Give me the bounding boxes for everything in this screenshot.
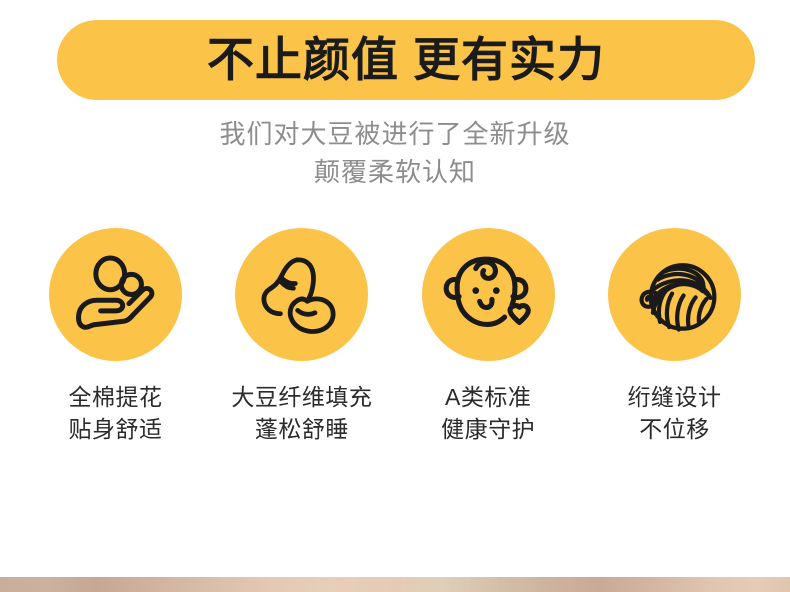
- feature-label-line-2: 蓬松舒睡: [231, 414, 372, 446]
- soybeans-icon: [254, 247, 350, 343]
- subtitle-line-2: 颠覆柔软认知: [0, 154, 790, 192]
- title-banner: 不止颜值 更有实力: [57, 20, 755, 100]
- feature-item-soybean: 大豆纤维填充 蓬松舒睡: [224, 228, 379, 445]
- hand-holding-cotton-icon: [68, 247, 164, 343]
- feature-label: A类标准 健康守护: [441, 382, 535, 445]
- yarn-ball-icon: [626, 247, 722, 343]
- subtitle-line-1: 我们对大豆被进行了全新升级: [0, 116, 790, 154]
- baby-face-heart-icon: [439, 246, 537, 344]
- feature-label-line-1: 全棉提花: [69, 384, 163, 410]
- feature-icon-badge: [235, 228, 368, 361]
- feature-label-line-1: 大豆纤维填充: [231, 384, 372, 410]
- feature-label-line-2: 不位移: [627, 414, 721, 446]
- feature-icon-badge: [422, 228, 555, 361]
- promo-page: 不止颜值 更有实力 我们对大豆被进行了全新升级 颠覆柔软认知 全棉提花 贴身舒适: [0, 0, 790, 592]
- feature-label-line-1: 绗缝设计: [627, 384, 721, 410]
- feature-label: 绗缝设计 不位移: [627, 382, 721, 445]
- feature-list: 全棉提花 贴身舒适 大豆纤维填充 蓬松舒睡: [0, 228, 790, 445]
- feature-label-line-2: 健康守护: [441, 414, 535, 446]
- feature-item-standard: A类标准 健康守护: [411, 228, 566, 445]
- feature-icon-badge: [608, 228, 741, 361]
- bottom-image-strip: [0, 577, 790, 592]
- page-title: 不止颜值 更有实力: [207, 36, 605, 83]
- feature-label: 全棉提花 贴身舒适: [69, 382, 163, 445]
- feature-label: 大豆纤维填充 蓬松舒睡: [231, 382, 372, 445]
- feature-item-quilting: 绗缝设计 不位移: [597, 228, 752, 445]
- feature-label-line-2: 贴身舒适: [69, 414, 163, 446]
- feature-icon-badge: [49, 228, 182, 361]
- feature-item-cotton: 全棉提花 贴身舒适: [38, 228, 193, 445]
- feature-label-line-1: A类标准: [445, 384, 531, 410]
- subtitle-block: 我们对大豆被进行了全新升级 颠覆柔软认知: [0, 116, 790, 191]
